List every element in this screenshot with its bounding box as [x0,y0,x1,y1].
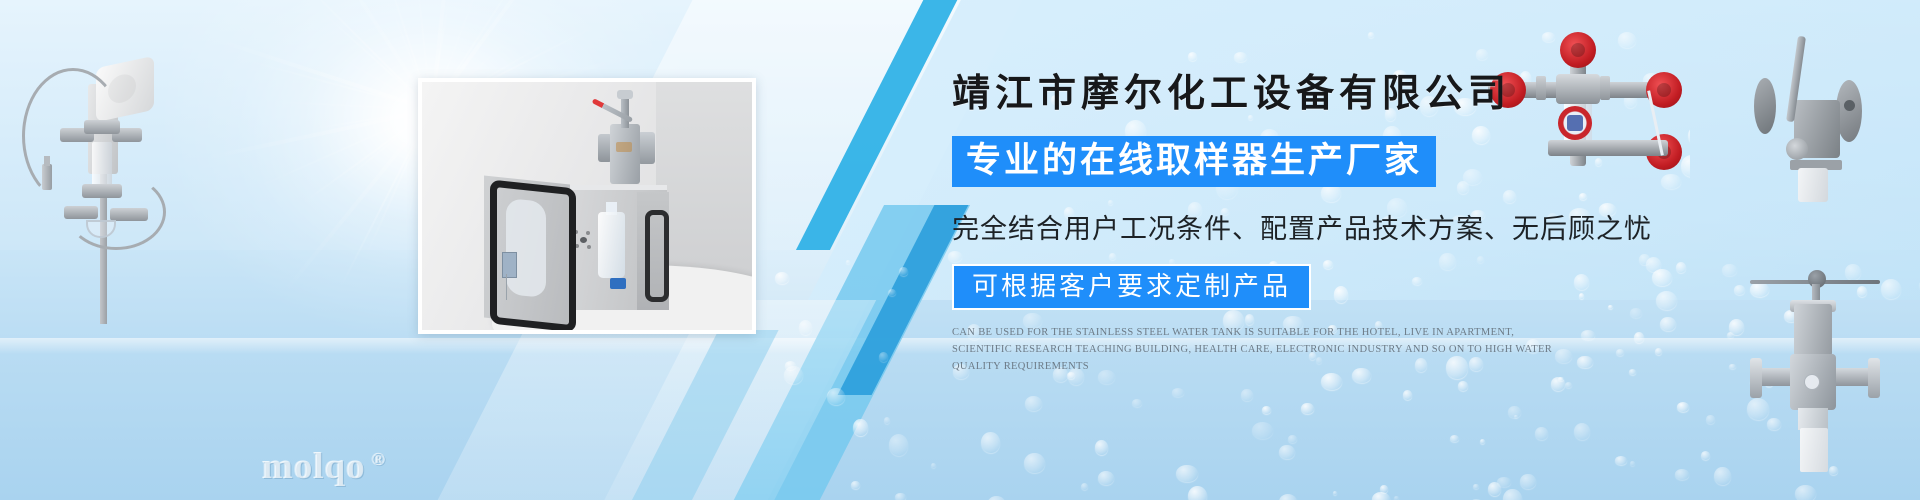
water-droplet [1688,126,1690,145]
cabinet-top-valve [592,90,658,192]
sample-bottle [598,212,625,278]
water-droplet [1188,52,1197,61]
left-product-sampler-image [0,24,200,324]
water-droplet [1677,402,1689,412]
sun-ray [281,109,434,296]
water-droplet [1503,489,1522,500]
water-droplet [851,481,860,489]
company-name: 靖江市摩尔化工设备有限公司 [952,74,1672,116]
diagonal-stripe-cyan-accent [838,205,969,395]
water-droplet [1321,373,1342,390]
water-droplet [1188,486,1207,500]
water-droplet [879,352,888,362]
cabinet-side-handle [645,210,669,302]
sun-ray [309,109,431,130]
sun-ray [292,0,431,111]
water-droplet [1514,415,1518,418]
cabinet-inner-bolt-holes [574,230,592,250]
water-droplet [1081,483,1088,490]
water-droplet [1729,364,1736,369]
handwheel-top [1560,32,1596,68]
water-droplet [1727,332,1734,338]
water-droplet [1095,440,1108,455]
valve-nameplate [616,142,632,152]
water-droplet [784,366,803,384]
water-droplet [899,267,908,276]
lever-valve-outlet-cup [1798,168,1828,202]
water-droplet [1520,474,1536,489]
water-droplet [1279,494,1297,500]
water-droplet [1458,381,1468,391]
lever-valve-flange-left [1754,78,1776,134]
water-droplet [775,272,789,284]
water-droplet [1574,423,1590,440]
cabinet-door-window [506,198,546,298]
water-droplet [1615,456,1627,465]
sampler-hose-lower [66,174,166,250]
water-droplet [1172,388,1184,397]
water-droplet [889,434,908,456]
vertical-valve-outlet-cup [1800,428,1828,472]
water-droplet [1701,451,1710,460]
water-droplet [1676,262,1686,273]
water-droplet [1288,435,1297,443]
water-droplet [1450,435,1459,442]
vertical-valve-neck [1798,408,1828,430]
water-droplet [888,289,896,296]
vertical-valve-bonnet [1794,304,1832,356]
sun-ray [201,108,433,161]
water-droplet [1714,467,1731,485]
customization-badge: 可根据客户要求定制产品 [952,264,1311,310]
headline-badge: 专业的在线取样器生产厂家 [952,136,1436,187]
water-droplet [785,361,796,370]
water-droplet [1488,482,1501,496]
water-droplet [1333,491,1337,495]
promo-banner: 靖江市摩尔化工设备有限公司 专业的在线取样器生产厂家 完全结合用户工况条件、配置… [0,0,1920,500]
sun-ray [209,36,433,112]
water-droplet [895,493,906,500]
water-droplet [1497,477,1511,487]
water-droplet [1734,285,1745,295]
water-droplet [1508,406,1521,418]
water-droplet [1234,52,1247,62]
water-droplet [1098,471,1114,485]
cabinet-door-key [506,274,507,300]
water-droplet [987,496,1006,500]
water-droplet [1368,32,1374,38]
water-droplet [846,260,850,264]
sun-ray [240,58,431,111]
vertical-valve-flange-right [1868,358,1880,398]
water-droplet [1241,389,1253,401]
center-product-photo [418,78,756,334]
water-droplet [1630,461,1635,466]
water-droplet [1403,390,1412,400]
water-droplet [884,417,890,424]
brand-watermark: molqo® [262,445,386,488]
water-droplet [1675,469,1689,480]
valve-knob [617,90,633,99]
water-droplet [1706,415,1715,424]
sample-bottle-cap [610,278,626,289]
water-droplet [1252,422,1273,439]
water-droplet [1025,396,1042,411]
water-droplet [1551,377,1565,391]
sun-ray [299,109,431,206]
sun-ray [313,4,432,111]
water-droplet [1558,377,1564,381]
sun-ray [249,109,432,192]
right-vertical-valve-image [1750,262,1920,500]
water-droplet [1480,439,1485,444]
cabinet-door-lock [502,252,517,278]
water-droplet [1279,445,1295,459]
water-droplet [931,463,936,468]
sun-ray [326,49,432,111]
water-droplet [1176,465,1198,482]
right-lever-valve-image [1706,18,1916,218]
sub-headline: 完全结合用户工况条件、配置产品技术方案、无后顾之忧 [952,207,1672,246]
english-description: CAN BE USED FOR THE STAINLESS STEEL WATE… [952,324,1567,375]
vertical-valve-flange-left [1750,358,1762,398]
water-droplet [1262,406,1271,414]
watermark-wordmark: molqo [262,446,366,487]
water-droplet [1301,403,1314,414]
water-droplet [799,320,812,335]
water-droplet [1722,264,1737,276]
diagonal-stripe-lower-band [601,330,778,500]
water-droplet [1535,427,1548,440]
water-droplet [1132,399,1142,407]
vertical-valve-arm-right [1830,368,1872,386]
water-droplet [1473,484,1479,489]
photo-wall-right [656,82,752,277]
banner-copy-block: 靖江市摩尔化工设备有限公司 专业的在线取样器生产厂家 完全结合用户工况条件、配置… [952,74,1672,375]
water-droplet [853,419,868,436]
valve-body [610,124,640,184]
registered-trademark-icon: ® [372,449,386,469]
valve-flange-right [638,132,655,164]
water-droplet [1394,496,1399,500]
sun-ray [304,0,434,111]
vertical-valve-seal-logo [1804,374,1820,390]
water-droplet [827,388,845,405]
water-droplet [1380,485,1388,493]
sun-ray [271,101,431,111]
water-droplet [1565,382,1572,388]
water-droplet [981,432,1000,453]
lever-valve-disc [1786,138,1808,160]
water-droplet [1024,453,1045,473]
water-droplet [1372,492,1390,500]
water-droplet [1729,319,1744,335]
sun-ray [333,109,431,189]
